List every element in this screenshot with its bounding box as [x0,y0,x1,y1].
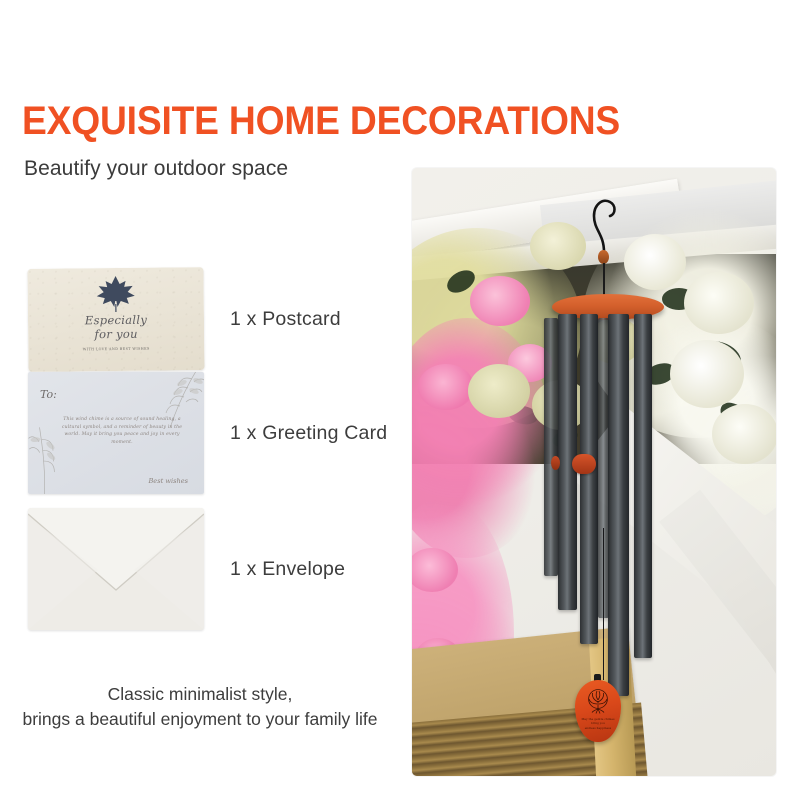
greeting-card-body-text: This wind chime is a source of sound hea… [54,416,190,446]
item-label-greeting-card: 1 x Greeting Card [230,422,387,445]
maple-leaf-icon [95,274,137,314]
chime-striker [551,456,560,470]
greeting-card-to-label: To: [40,388,57,401]
chime-cord [603,528,604,680]
cream-hydrangea [670,340,744,408]
chime-tube [608,314,629,696]
postcard-graphic: Especially for you WITH LOVE AND BEST WI… [27,267,204,372]
caption-line-1: Classic minimalist style, [108,684,293,704]
greeting-card-thumbnail: To: This wind chime is a source of sound… [28,372,204,494]
footer-caption: Classic minimalist style, brings a beaut… [0,682,400,732]
cream-hydrangea [624,234,686,290]
pink-flower [470,276,530,326]
list-item-postcard: Especially for you WITH LOVE AND BEST WI… [28,268,341,371]
chime-tube [634,314,652,658]
cream-hydrangea [530,222,586,270]
cream-hydrangea [712,404,776,464]
pink-flower [418,364,474,410]
item-label-postcard: 1 x Postcard [230,308,341,331]
wooden-bead [598,250,609,264]
greeting-card-signoff: Best wishes [148,477,188,485]
page-subtitle: Beautify your outdoor space [24,157,288,181]
item-label-envelope: 1 x Envelope [230,558,345,581]
greeting-card-graphic: To: This wind chime is a source of sound… [28,372,204,494]
product-feature-panel: EXQUISITE HOME DECORATIONS Beautify your… [0,0,800,800]
tree-of-life-icon [583,688,613,716]
s-hook-icon [591,182,617,254]
cream-hydrangea [468,364,530,418]
envelope-graphic [28,508,204,630]
postcard-tiny-text: WITH LOVE AND BEST WISHES [28,346,204,352]
envelope-icon [28,508,204,630]
postcard-thumbnail: Especially for you WITH LOVE AND BEST WI… [28,268,204,371]
sail-engraved-text: May the gentle chimes bring you endless … [578,717,618,730]
chime-tube [580,314,598,644]
postcard-script-text: Especially for you [28,312,204,342]
cream-hydrangea [684,272,754,334]
chime-striker [572,454,596,474]
wind-chime-lifestyle-photo: May the gentle chimes bring you endless … [412,168,776,776]
list-item-greeting-card: To: This wind chime is a source of sound… [28,372,387,494]
chime-tube [544,318,558,576]
page-title: EXQUISITE HOME DECORATIONS [22,100,543,142]
list-item-envelope: 1 x Envelope [28,508,345,630]
caption-line-2: brings a beautiful enjoyment to your fam… [22,709,377,729]
envelope-thumbnail [28,508,204,630]
